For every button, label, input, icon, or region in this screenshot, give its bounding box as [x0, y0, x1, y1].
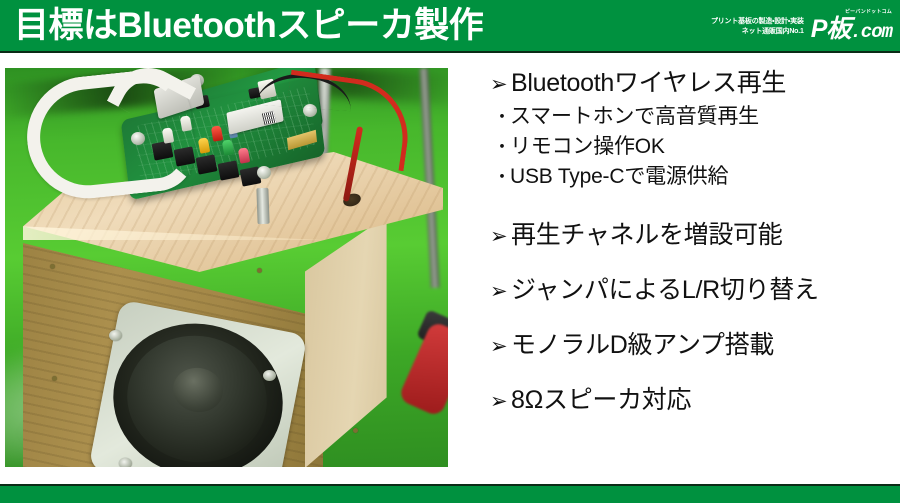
bullet-arrow-icon: ➢	[490, 68, 511, 102]
bullet-item: ➢ Bluetoothワイヤレス再生	[490, 66, 895, 102]
bullet-spacer	[490, 192, 895, 218]
sub-bullet-label: リモコン操作OK	[510, 132, 665, 161]
logo-mark: ピーバンドットコム P板.com	[811, 9, 892, 45]
header-band: 目標はBluetoothスピーカ製作 プリント基板の製造・設計・実装 ネット通販…	[0, 0, 900, 53]
feature-bullet-list: ➢ Bluetoothワイヤレス再生 ・ スマートホンで高音質再生 ・ リモコン…	[490, 66, 895, 419]
brand-logo: プリント基板の製造・設計・実装 ネット通販国内No.1 ピーバンドットコム P板…	[711, 8, 892, 46]
bullet-spacer	[490, 254, 895, 273]
sub-bullet-item: ・ リモコン操作OK	[490, 132, 895, 162]
bullet-arrow-icon: ➢	[490, 330, 511, 364]
bullet-item: ➢ モノラルD級アンプ搭載	[490, 328, 895, 364]
bullet-label: Bluetoothワイヤレス再生	[511, 66, 786, 100]
wood-screw	[50, 264, 55, 269]
driver-mount-screw	[119, 458, 132, 467]
sub-bullet-item: ・ USB Type-Cで電源供給	[490, 162, 895, 192]
sub-bullet-label: スマートホンで高音質再生	[510, 102, 759, 131]
pcb-component	[196, 154, 218, 174]
sub-bullet-label: USB Type-Cで電源供給	[510, 162, 728, 191]
logo-tagline: プリント基板の製造・設計・実装 ネット通販国内No.1	[711, 17, 804, 37]
bullet-dot-icon: ・	[493, 163, 510, 192]
logo-brand: P板	[811, 15, 851, 43]
footer-band	[0, 484, 900, 503]
slide: 目標はBluetoothスピーカ製作 プリント基板の製造・設計・実装 ネット通販…	[0, 0, 900, 503]
wood-screw	[52, 376, 57, 381]
driver-mount-screw	[263, 370, 276, 381]
bullet-item: ➢ 8Ωスピーカ対応	[490, 383, 895, 419]
wood-screw	[257, 268, 262, 273]
bullet-spacer	[490, 364, 895, 383]
bullet-label: ジャンパによるL/R切り替え	[511, 273, 819, 307]
logo-furigana: ピーバンドットコム	[845, 9, 892, 15]
product-photo	[5, 68, 448, 467]
bullet-item: ➢ ジャンパによるL/R切り替え	[490, 273, 895, 309]
product-photo-illustration	[5, 68, 448, 467]
bullet-dot-icon: ・	[493, 133, 510, 162]
logo-tagline-line1: プリント基板の製造・設計・実装	[711, 17, 804, 27]
bullet-label: モノラルD級アンプ搭載	[511, 328, 774, 362]
pcb-mount-screw	[257, 166, 271, 179]
bullet-label: 再生チャネルを増設可能	[511, 218, 782, 252]
bullet-arrow-icon: ➢	[490, 275, 511, 309]
page-title: 目標はBluetoothスピーカ製作	[14, 2, 483, 50]
logo-brand-suffix: .com	[850, 21, 892, 43]
sub-bullet-item: ・ スマートホンで高音質再生	[490, 102, 895, 132]
logo-tagline-line2: ネット通販国内No.1	[711, 27, 804, 37]
pcb-standoff	[256, 188, 269, 224]
driver-mount-screw	[109, 330, 122, 341]
logo-wordmark: P板.com	[811, 16, 892, 45]
bullet-arrow-icon: ➢	[490, 220, 511, 254]
bullet-spacer	[490, 309, 895, 328]
bullet-label: 8Ωスピーカ対応	[511, 383, 691, 417]
pcb-component	[218, 160, 240, 180]
wood-screw	[353, 428, 358, 433]
bullet-item: ➢ 再生チャネルを増設可能	[490, 218, 895, 254]
bullet-dot-icon: ・	[493, 103, 510, 132]
bullet-arrow-icon: ➢	[490, 385, 511, 419]
